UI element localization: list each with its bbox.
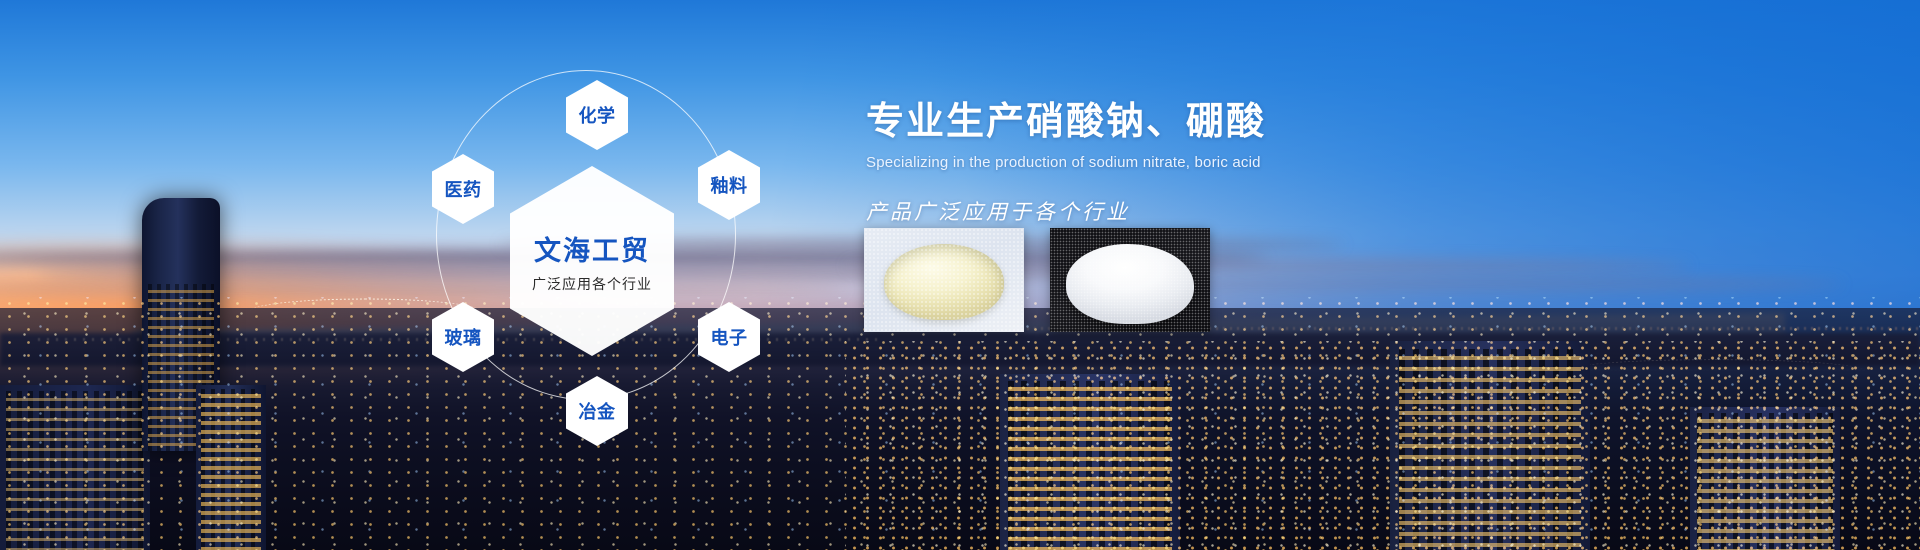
company-name: 文海工贸 (534, 229, 650, 268)
product-photo-boric-acid[interactable] (1050, 228, 1210, 332)
powder-grain-texture (864, 228, 1024, 332)
product-photo-sodium-nitrate[interactable] (864, 228, 1024, 332)
tagline: 产品广泛应用于各个行业 (866, 196, 1566, 226)
hex-label: 医药 (445, 176, 482, 202)
hex-label: 冶金 (579, 398, 616, 424)
hex-label: 玻璃 (445, 324, 482, 350)
headline-block: 专业生产硝酸钠、硼酸 Specializing in the productio… (866, 100, 1566, 226)
city-lights (845, 341, 1920, 550)
hex-label: 电子 (711, 324, 748, 350)
product-photo-group (864, 228, 1210, 332)
hex-label: 釉料 (711, 172, 748, 198)
hero-banner: 化学 釉料 电子 冶金 玻璃 医药 文海工贸 广泛应用各个行业 专业生产硝酸钠、… (0, 0, 1920, 550)
headline: 专业生产硝酸钠、硼酸 (866, 100, 1566, 145)
hex-label: 化学 (579, 102, 616, 128)
subheadline-english: Specializing in the production of sodium… (866, 154, 1566, 171)
powder-grain-texture (1050, 228, 1210, 332)
industry-hex-diagram: 化学 釉料 电子 冶金 玻璃 医药 文海工贸 广泛应用各个行业 (430, 36, 760, 436)
company-tagline: 广泛应用各个行业 (532, 274, 652, 294)
